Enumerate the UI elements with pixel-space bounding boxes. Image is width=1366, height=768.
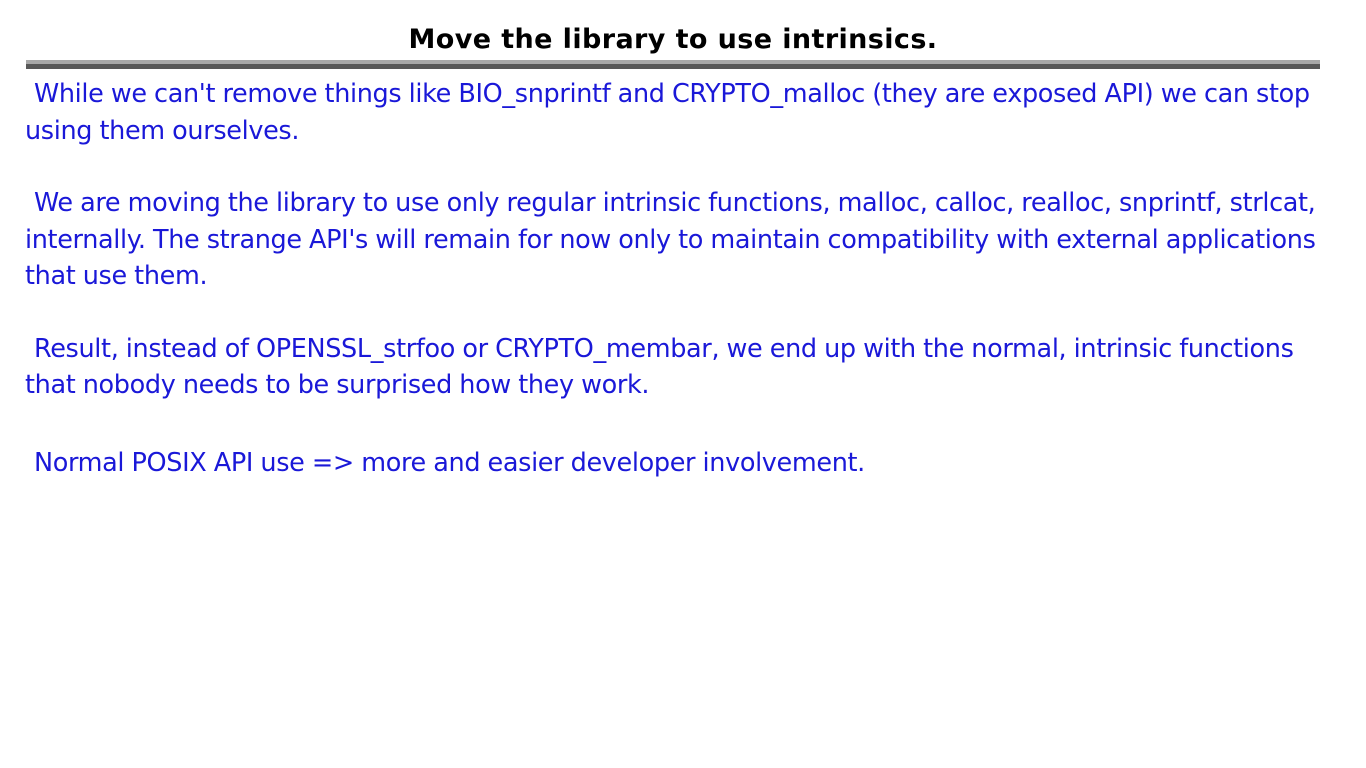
body-paragraph-4: Normal POSIX API use => more and easier … <box>25 445 1325 482</box>
title-divider <box>26 60 1320 69</box>
page-title: Move the library to use intrinsics. <box>26 24 1320 56</box>
slide-canvas: Move the library to use intrinsics. Whil… <box>0 0 1366 768</box>
body-paragraph-2: We are moving the library to use only re… <box>25 185 1325 295</box>
body-paragraph-4-text: Normal POSIX API use => more and easier … <box>34 448 865 478</box>
body-paragraph-3-text: Result, instead of OPENSSL_strfoo or CRY… <box>25 334 1294 401</box>
slide-body: While we can't remove things like BIO_sn… <box>25 76 1325 481</box>
body-paragraph-1: While we can't remove things like BIO_sn… <box>25 76 1325 149</box>
body-paragraph-2-text: We are moving the library to use only re… <box>25 188 1316 291</box>
body-paragraph-1-text: While we can't remove things like BIO_sn… <box>25 79 1310 146</box>
body-paragraph-3: Result, instead of OPENSSL_strfoo or CRY… <box>25 331 1325 404</box>
